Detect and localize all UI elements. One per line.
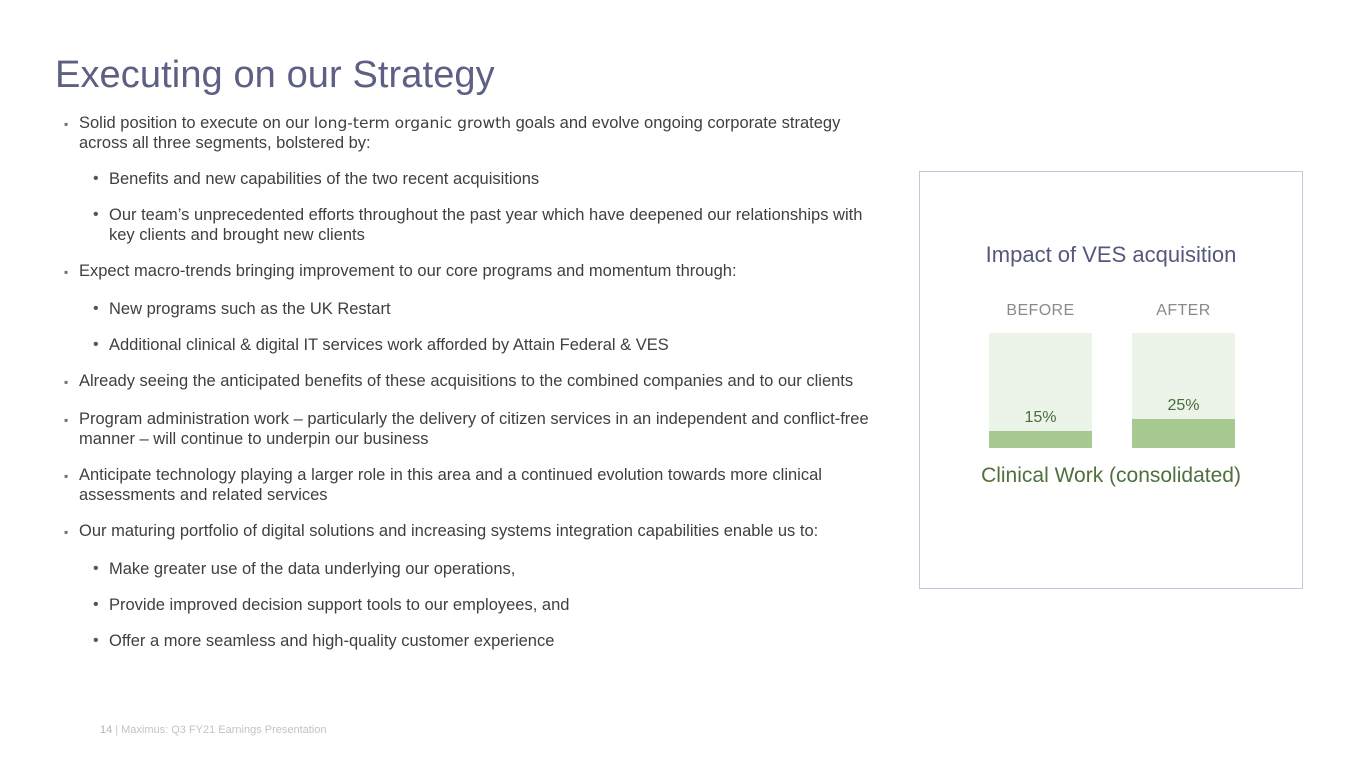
list-item: • Make greater use of the data underlyin… <box>55 559 875 579</box>
list-item-text: Our team’s unprecedented efforts through… <box>109 205 875 245</box>
slide-footer: 14|Maximus: Q3 FY21 Earnings Presentatio… <box>100 724 327 736</box>
page-title: Executing on our Strategy <box>55 54 495 97</box>
bullet-marker-dot: • <box>55 299 109 319</box>
bar-chart: BEFORE 15% AFTER 25% <box>920 302 1302 450</box>
list-item: • Our team’s unprecedented efforts throu… <box>55 205 875 245</box>
list-item-text: New programs such as the UK Restart <box>109 299 875 319</box>
page-number: 14 <box>100 724 112 736</box>
bar-value-label: 15% <box>989 409 1092 427</box>
list-item-text: Already seeing the anticipated benefits … <box>79 371 875 391</box>
list-item: ▪ Our maturing portfolio of digital solu… <box>55 521 875 543</box>
list-item: • New programs such as the UK Restart <box>55 299 875 319</box>
list-item: ▪ Program administration work – particul… <box>55 409 875 449</box>
bullet-marker-dot: • <box>55 559 109 579</box>
bar-group-before: BEFORE 15% <box>989 302 1092 450</box>
list-item-text: Expect macro-trends bringing improvement… <box>79 261 875 281</box>
list-item-text-emphasis: long-term organic growth <box>314 114 511 132</box>
bullet-marker-square: ▪ <box>55 371 79 393</box>
bullet-marker-square: ▪ <box>55 261 79 283</box>
bar-category-label: AFTER <box>1132 302 1235 320</box>
bullet-marker-dot: • <box>55 335 109 355</box>
list-item: • Additional clinical & digital IT servi… <box>55 335 875 355</box>
list-item: • Offer a more seamless and high-quality… <box>55 631 875 651</box>
list-item: ▪ Already seeing the anticipated benefit… <box>55 371 875 393</box>
bar-fill <box>989 431 1092 448</box>
bullet-marker-square: ▪ <box>55 465 79 487</box>
bullet-marker-dot: • <box>55 169 109 189</box>
list-item-text: Make greater use of the data underlying … <box>109 559 875 579</box>
list-item-text: Solid position to execute on our long-te… <box>79 113 875 153</box>
bullet-marker-dot: • <box>55 595 109 615</box>
list-item-text-part: Solid position to execute on our <box>79 114 314 132</box>
list-item: • Provide improved decision support tool… <box>55 595 875 615</box>
footer-separator: | <box>112 724 121 736</box>
bullet-marker-square: ▪ <box>55 409 79 431</box>
list-item-text: Benefits and new capabilities of the two… <box>109 169 875 189</box>
bar-value-label: 25% <box>1132 397 1235 415</box>
list-item: • Benefits and new capabilities of the t… <box>55 169 875 189</box>
bar-fill <box>1132 419 1235 448</box>
list-item: ▪ Expect macro-trends bringing improveme… <box>55 261 875 283</box>
list-item-text: Anticipate technology playing a larger r… <box>79 465 875 505</box>
bar-track: 25% <box>1132 333 1235 448</box>
bullet-marker-dot: • <box>55 631 109 651</box>
bullet-list: ▪ Solid position to execute on our long-… <box>55 113 875 662</box>
chart-footer-label: Clinical Work (consolidated) <box>920 464 1302 488</box>
bar-track: 15% <box>989 333 1092 448</box>
bullet-marker-square: ▪ <box>55 521 79 543</box>
chart-card: Impact of VES acquisition BEFORE 15% AFT… <box>919 171 1303 589</box>
bullet-marker-square: ▪ <box>55 113 79 135</box>
list-item: ▪ Solid position to execute on our long-… <box>55 113 875 153</box>
chart-title: Impact of VES acquisition <box>920 242 1302 268</box>
bar-category-label: BEFORE <box>989 302 1092 320</box>
list-item-text: Provide improved decision support tools … <box>109 595 875 615</box>
list-item-text: Additional clinical & digital IT service… <box>109 335 875 355</box>
deck-name: Maximus: Q3 FY21 Earnings Presentation <box>121 724 326 736</box>
list-item-text: Offer a more seamless and high-quality c… <box>109 631 875 651</box>
bullet-marker-dot: • <box>55 205 109 225</box>
list-item-text: Program administration work – particular… <box>79 409 875 449</box>
list-item: ▪ Anticipate technology playing a larger… <box>55 465 875 505</box>
bar-group-after: AFTER 25% <box>1132 302 1235 450</box>
list-item-text: Our maturing portfolio of digital soluti… <box>79 521 875 541</box>
